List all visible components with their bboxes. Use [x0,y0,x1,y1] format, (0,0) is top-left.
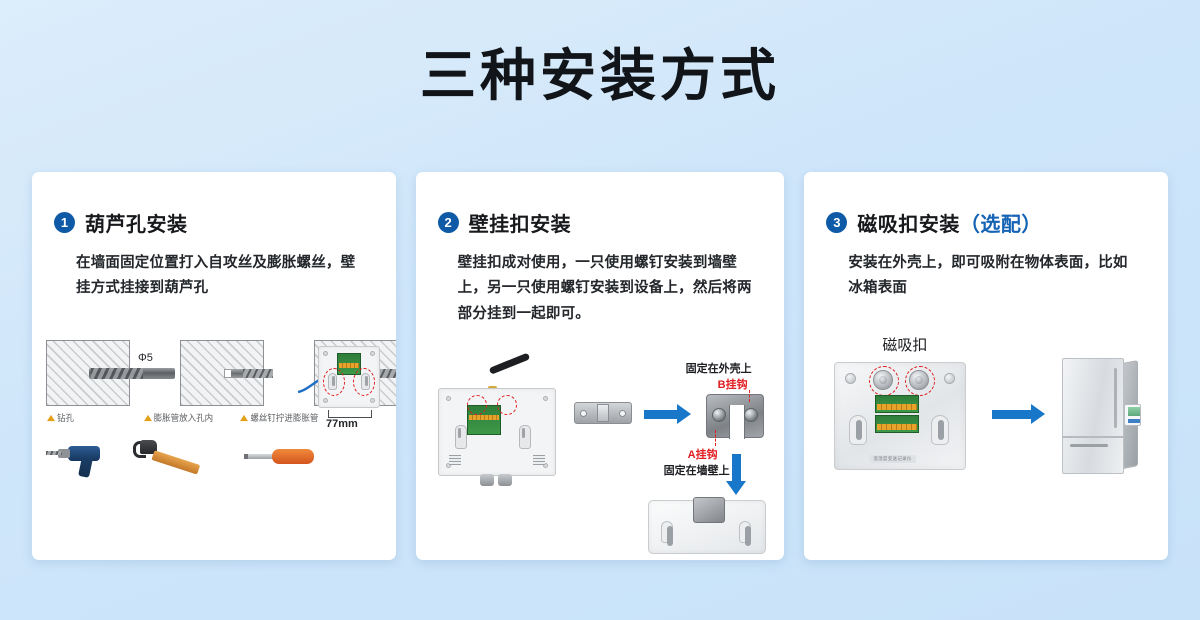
bracket-notch [597,404,609,422]
device-with-antenna [438,382,558,482]
vent-right [533,455,545,465]
keyhole-slot-right [931,415,949,445]
flat-bracket-pair [574,402,634,428]
wall-block-step2 [180,340,264,406]
hammer-handle [151,450,200,474]
keyhole-slot-left [455,425,467,449]
label-fixed-to-shell: 固定在外壳上 [686,360,752,376]
step-label-1: 钻孔 [46,412,143,425]
label-magnetic-buckle: 磁吸扣 [882,334,927,355]
card-3-title: 磁吸扣安装（选配） [857,208,1042,237]
device-backplate [318,346,380,408]
card-1-description: 在墙面固定位置打入自攻丝及膨胀螺丝，壁挂方式挂接到葫芦孔 [76,251,366,302]
keyhole-slot-right [519,425,531,449]
device-backplate [438,388,556,476]
mounted-sensor [1124,404,1141,426]
hook-gap [729,405,745,439]
highlight-circle-right [353,368,375,396]
card-hole-mount[interactable]: 1 葫芦孔安装 在墙面固定位置打入自攻丝及膨胀螺丝，壁挂方式挂接到葫芦孔 [32,172,396,560]
installation-methods-page: 三种安装方式 1 葫芦孔安装 在墙面固定位置打入自攻丝及膨胀螺丝，壁挂方式挂接到… [0,0,1200,620]
drill-icon [50,440,110,480]
card-3-diagram: 磁吸扣 温湿度变送记录仪 [804,332,1168,532]
card-3-description: 安装在外壳上，即可吸附在物体表面，比如冰箱表面 [848,251,1138,302]
card-2-header: 2 壁挂扣安装 [438,208,785,237]
screw-hole [446,396,451,401]
screw-hole [323,351,328,356]
sensor-label-bar [1128,419,1140,423]
drill-bit-icon [89,368,175,379]
page-title: 三种安装方式 [0,45,1200,107]
screw-hole [845,373,856,384]
leader-line-b [749,390,750,402]
refrigerator-illustration [1062,358,1138,474]
screwdriver-icon [244,448,320,470]
cable-gland-right [498,474,512,486]
highlight-circle-left [467,395,487,415]
highlight-circle-right [905,366,935,396]
card-3-header: 3 磁吸扣安装（选配） [826,208,1168,237]
screw-hole [944,373,955,384]
card-wall-hook-mount[interactable]: 2 壁挂扣安装 壁挂扣成对使用，一只使用螺钉安装到墙壁上，另一只使用螺钉安装到设… [416,172,785,560]
card-2-number-badge: 2 [438,212,459,233]
sensor-screen [1128,407,1140,416]
hammer-icon [140,440,210,484]
keyhole-slot-right [739,521,751,543]
mounted-hook [693,497,725,523]
cable-gland-left [480,474,494,486]
fridge-handle-lower [1070,444,1108,447]
card-2-title-text: 壁挂扣安装 [469,214,572,236]
label-fixed-to-wall: 固定在墙壁上 [664,462,730,478]
screw-hole [370,351,375,356]
cards-container: 1 葫芦孔安装 在墙面固定位置打入自攻丝及膨胀螺丝，壁挂方式挂接到葫芦孔 [32,172,1168,560]
screw-hole [323,398,328,403]
step-label-3: 螺丝钉拧进膨胀管 [239,412,336,425]
terminal-block-lower [875,415,919,433]
screw-hole [370,398,375,403]
arrow-right-icon [644,410,678,419]
highlight-circle-left [323,368,345,396]
screwdriver-handle [272,449,314,464]
device-tag: 温湿度变送记录仪 [869,455,915,463]
hook-rivet-a [712,408,726,422]
leader-line-a [715,430,716,446]
screw-hole [543,396,548,401]
drill-bit [46,451,62,455]
antenna-icon [488,353,530,375]
assembled-device [648,500,766,554]
step-label-2: 膨胀管放入孔内 [143,412,240,425]
card-2-description: 壁挂扣成对使用，一只使用螺钉安装到墙壁上，另一只使用螺钉安装到设备上，然后将两部… [458,251,765,327]
highlight-circle-right [497,395,517,415]
keyhole-slot-left [661,521,673,543]
arrow-down-icon [732,454,741,482]
card-magnetic-mount[interactable]: 3 磁吸扣安装（选配） 安装在外壳上，即可吸附在物体表面，比如冰箱表面 磁吸扣 [804,172,1168,560]
vent-left [449,455,461,465]
card-1-diagram: Φ5 [32,340,396,550]
expansion-tube-icon [231,369,273,378]
card-3-number-badge: 3 [826,212,847,233]
card-3-title-text: 磁吸扣安装 [857,214,960,236]
card-1-number-badge: 1 [54,212,75,233]
card-2-diagram: 固定在外壳上 B挂钩 A挂钩 固定在墙壁上 [416,358,785,558]
card-1-title-text: 葫芦孔安装 [85,214,188,236]
device-backplate: 温湿度变送记录仪 [834,362,966,470]
label-hook-a: A挂钩 [688,446,718,462]
arrow-right-icon [992,410,1032,419]
card-3-title-optional: （选配） [960,214,1042,236]
card-1-header: 1 葫芦孔安装 [54,208,396,237]
step-labels: 钻孔 膨胀管放入孔内 螺丝钉拧进膨胀管 [46,412,336,424]
card-1-title: 葫芦孔安装 [85,208,188,237]
fridge-door-split [1063,436,1123,438]
label-hook-b: B挂钩 [718,376,748,392]
keyhole-slot-left [849,415,867,445]
wall-block-step1 [46,340,130,406]
card-2-title: 壁挂扣安装 [469,208,572,237]
diameter-label: Φ5 [138,352,153,364]
hook-rivet-b [744,408,758,422]
highlight-circle-left [869,366,899,396]
terminal-block-upper [875,395,919,413]
fridge-handle-upper [1114,368,1117,428]
